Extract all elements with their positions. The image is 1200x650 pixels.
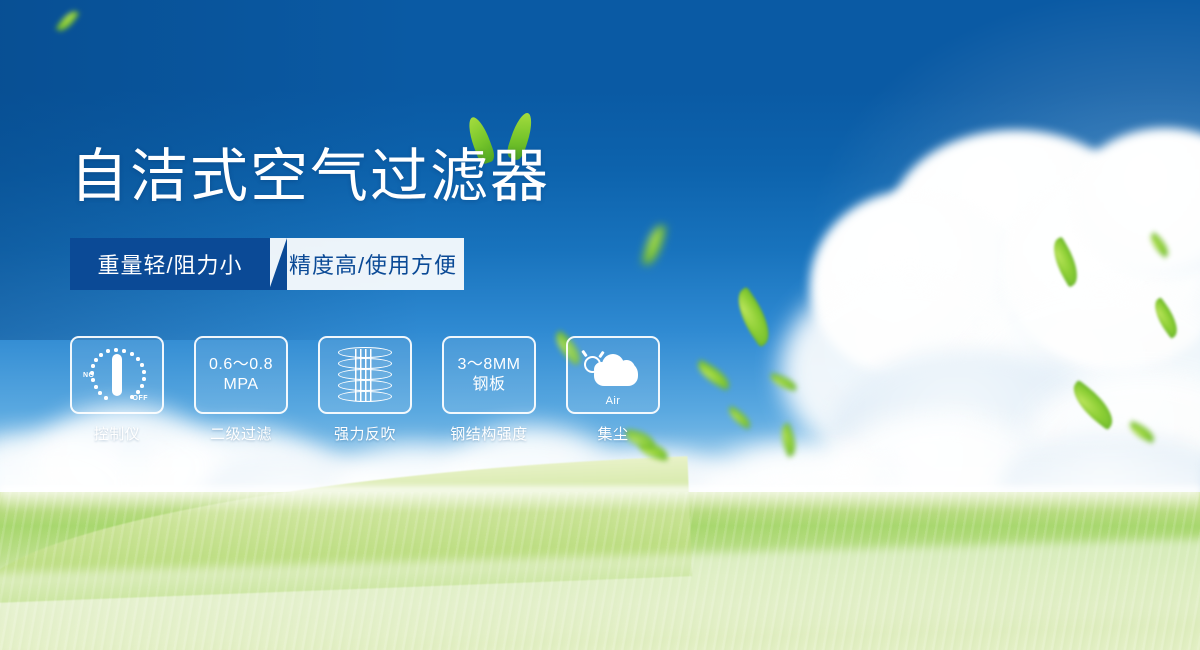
dial-label-off: OFF bbox=[133, 395, 149, 402]
pressure-range: 0.6～0.8 bbox=[209, 356, 273, 373]
feature-list: NO OFF 控制仪 0.6～0.8 MPA 二级过滤 bbox=[70, 336, 660, 444]
coil-icon bbox=[335, 345, 395, 405]
grass-horizon-glow bbox=[0, 486, 1200, 512]
feature-label: 钢结构强度 bbox=[450, 423, 528, 444]
air-label: Air bbox=[582, 395, 644, 407]
feature-icon-box bbox=[318, 336, 412, 414]
thickness-material: 钢板 bbox=[458, 375, 521, 395]
dial-needle bbox=[112, 354, 122, 396]
cloud-air-icon: Air bbox=[582, 348, 644, 402]
feature-item-controller[interactable]: NO OFF 控制仪 bbox=[70, 336, 164, 444]
thickness-text-icon: 3～8MM 钢板 bbox=[458, 355, 521, 395]
pressure-unit: MPA bbox=[209, 375, 273, 395]
pressure-text-icon: 0.6～0.8 MPA bbox=[209, 355, 273, 395]
feature-label: 控制仪 bbox=[94, 423, 141, 444]
banner-stage: 自洁式空气过滤器 重量轻/阻力小 精度高/使用方便 bbox=[0, 0, 1200, 650]
dial-label-on: NO bbox=[83, 372, 95, 379]
feature-label: 集尘 bbox=[597, 423, 628, 444]
feature-item-two-stage-filter[interactable]: 0.6～0.8 MPA 二级过滤 bbox=[194, 336, 288, 444]
feature-icon-box: NO OFF bbox=[70, 336, 164, 414]
feature-item-dust-collection[interactable]: Air 集尘 bbox=[566, 336, 660, 444]
feature-label: 二级过滤 bbox=[210, 423, 272, 444]
feature-icon-box: Air bbox=[566, 336, 660, 414]
subtitle-bar: 重量轻/阻力小 精度高/使用方便 bbox=[70, 238, 464, 290]
subtitle-right: 精度高/使用方便 bbox=[270, 238, 464, 290]
dial-icon: NO OFF bbox=[84, 345, 150, 405]
feature-item-steel-strength[interactable]: 3～8MM 钢板 钢结构强度 bbox=[442, 336, 536, 444]
feature-item-strong-blowback[interactable]: 强力反吹 bbox=[318, 336, 412, 444]
subtitle-left: 重量轻/阻力小 bbox=[70, 238, 270, 290]
thickness-range: 3～8MM bbox=[458, 356, 521, 373]
page-title: 自洁式空气过滤器 bbox=[70, 148, 550, 206]
feature-label: 强力反吹 bbox=[334, 423, 396, 444]
feature-icon-box: 3～8MM 钢板 bbox=[442, 336, 536, 414]
feature-icon-box: 0.6～0.8 MPA bbox=[194, 336, 288, 414]
